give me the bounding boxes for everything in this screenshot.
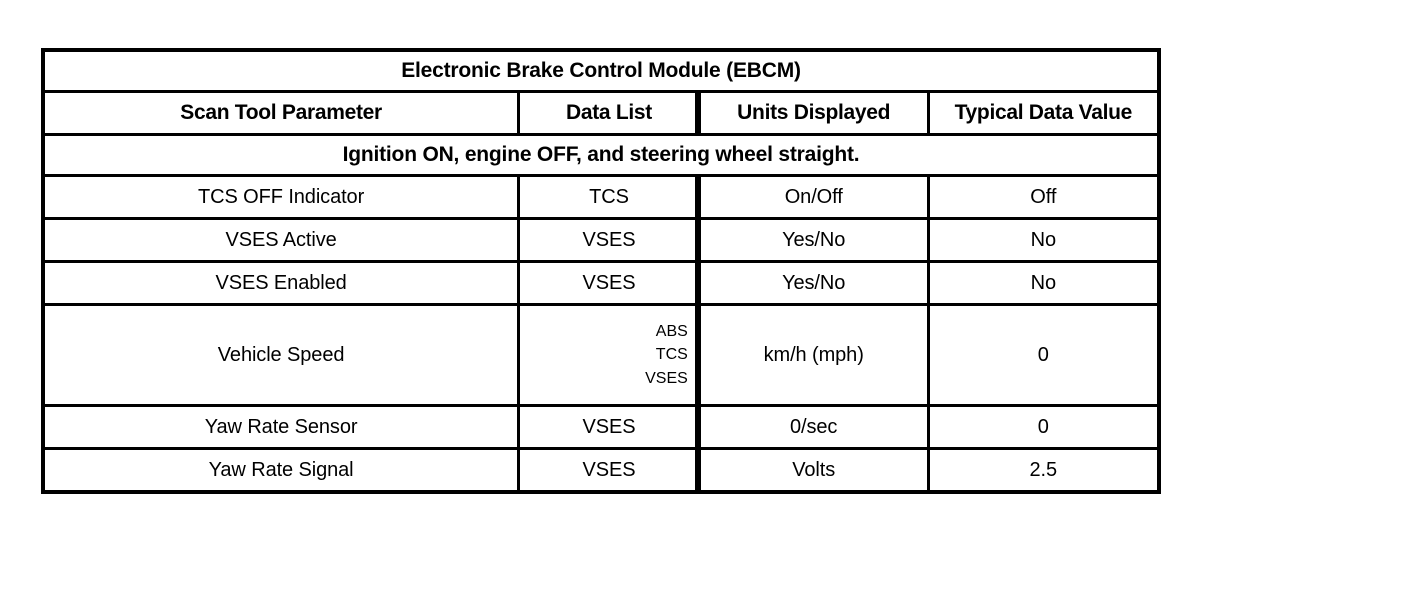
column-header-parameter: Scan Tool Parameter	[43, 92, 519, 135]
table-row: Yaw Rate Sensor VSES 0/sec 0	[43, 406, 1159, 449]
cell-units: Volts	[699, 449, 928, 493]
cell-parameter: Yaw Rate Sensor	[43, 406, 519, 449]
table-header-row: Scan Tool Parameter Data List Units Disp…	[43, 92, 1159, 135]
cell-typical-value: No	[928, 262, 1159, 305]
cell-units: Yes/No	[699, 262, 928, 305]
column-header-units: Units Displayed	[699, 92, 928, 135]
table-title: Electronic Brake Control Module (EBCM)	[45, 59, 1157, 83]
table-row: VSES Enabled VSES Yes/No No	[43, 262, 1159, 305]
condition-text: Ignition ON, engine OFF, and steering wh…	[45, 143, 1157, 167]
cell-data-list: TCS	[519, 176, 700, 219]
cell-data-list: VSES	[519, 406, 700, 449]
page-canvas: Electronic Brake Control Module (EBCM) S…	[0, 0, 1408, 600]
table-row: Vehicle Speed ABS TCS VSES km/h (mph) 0	[43, 305, 1159, 406]
spec-table-container: Electronic Brake Control Module (EBCM) S…	[41, 48, 1161, 494]
table-row: Yaw Rate Signal VSES Volts 2.5	[43, 449, 1159, 493]
ebcm-parameter-table: Electronic Brake Control Module (EBCM) S…	[41, 48, 1161, 494]
cell-units: Yes/No	[699, 219, 928, 262]
cell-units: 0/sec	[699, 406, 928, 449]
data-list-stack: ABS TCS VSES	[520, 320, 698, 390]
cell-parameter: TCS OFF Indicator	[43, 176, 519, 219]
cell-typical-value: No	[928, 219, 1159, 262]
cell-data-list: VSES	[519, 449, 700, 493]
cell-typical-value: 0	[928, 305, 1159, 406]
table-title-row: Electronic Brake Control Module (EBCM)	[43, 50, 1159, 92]
table-title-cell: Electronic Brake Control Module (EBCM)	[43, 50, 1159, 92]
cell-units: km/h (mph)	[699, 305, 928, 406]
cell-typical-value: 2.5	[928, 449, 1159, 493]
cell-typical-value: 0	[928, 406, 1159, 449]
cell-parameter: Yaw Rate Signal	[43, 449, 519, 493]
column-header-typical-value: Typical Data Value	[928, 92, 1159, 135]
cell-parameter: Vehicle Speed	[43, 305, 519, 406]
cell-parameter: VSES Enabled	[43, 262, 519, 305]
table-condition-row: Ignition ON, engine OFF, and steering wh…	[43, 135, 1159, 176]
column-header-data-list: Data List	[519, 92, 700, 135]
condition-cell: Ignition ON, engine OFF, and steering wh…	[43, 135, 1159, 176]
cell-data-list: ABS TCS VSES	[519, 305, 700, 406]
cell-units: On/Off	[699, 176, 928, 219]
cell-data-list: VSES	[519, 219, 700, 262]
table-row: VSES Active VSES Yes/No No	[43, 219, 1159, 262]
cell-parameter: VSES Active	[43, 219, 519, 262]
table-row: TCS OFF Indicator TCS On/Off Off	[43, 176, 1159, 219]
cell-data-list: VSES	[519, 262, 700, 305]
cell-typical-value: Off	[928, 176, 1159, 219]
